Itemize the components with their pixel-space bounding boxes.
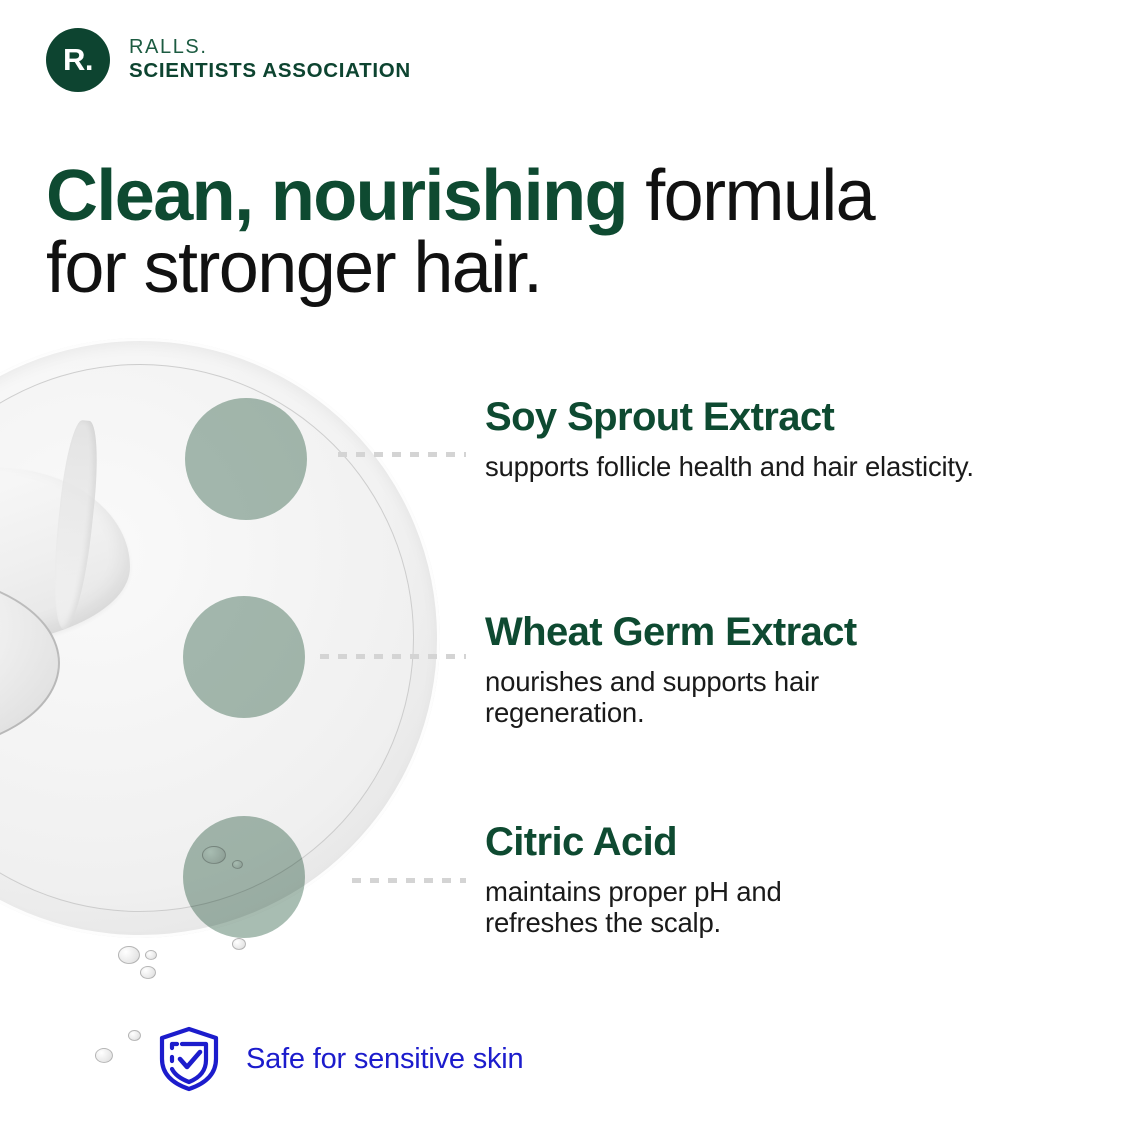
logo-mark-icon: R. xyxy=(46,28,110,92)
highlight-marker-soy xyxy=(185,398,307,520)
bubble xyxy=(145,950,157,960)
ingredient-description: supports follicle health and hair elasti… xyxy=(485,451,975,482)
ingredient-title: Soy Sprout Extract xyxy=(485,396,1045,439)
brand-text: RALLS. SCIENTISTS ASSOCIATION xyxy=(129,37,411,83)
brand-name: RALLS. xyxy=(129,37,411,59)
ingredient-item-2: Citric Acid maintains proper pH and refr… xyxy=(485,821,1045,938)
connector-line-soy xyxy=(338,452,466,457)
page-title: Clean, nourishing formula for stronger h… xyxy=(46,160,1056,304)
bubble xyxy=(128,1030,141,1041)
logo-mark-label: R. xyxy=(63,44,93,75)
bubble xyxy=(95,1048,113,1063)
bubble xyxy=(118,946,140,964)
bubble xyxy=(232,938,246,950)
headline-rest: formula xyxy=(627,156,874,236)
ingredient-description: maintains proper pH and refreshes the sc… xyxy=(485,876,880,938)
headline-line2: for stronger hair. xyxy=(46,228,541,308)
ingredient-item-1: Wheat Germ Extract nourishes and support… xyxy=(485,611,1045,728)
ingredient-item-0: Soy Sprout Extract supports follicle hea… xyxy=(485,396,1045,482)
ingredient-description: nourishes and supports hair regeneration… xyxy=(485,666,860,728)
safety-badge-label: Safe for sensitive skin xyxy=(246,1043,523,1076)
connector-line-wheat xyxy=(320,654,466,659)
shield-check-icon xyxy=(158,1026,220,1092)
highlight-marker-wheat xyxy=(183,596,305,718)
safety-badge[interactable]: Safe for sensitive skin xyxy=(158,1026,523,1092)
connector-line-citric xyxy=(352,878,466,883)
ingredient-title: Citric Acid xyxy=(485,821,1045,864)
brand-tagline: SCIENTISTS ASSOCIATION xyxy=(129,60,411,83)
ingredient-title: Wheat Germ Extract xyxy=(485,611,1045,654)
brand-logo[interactable]: R. RALLS. SCIENTISTS ASSOCIATION xyxy=(46,28,411,92)
bubble xyxy=(140,966,156,979)
highlight-marker-citric xyxy=(183,816,305,938)
infographic-canvas: R. RALLS. SCIENTISTS ASSOCIATION Clean, … xyxy=(0,0,1125,1125)
headline-accent: Clean, nourishing xyxy=(46,156,627,236)
